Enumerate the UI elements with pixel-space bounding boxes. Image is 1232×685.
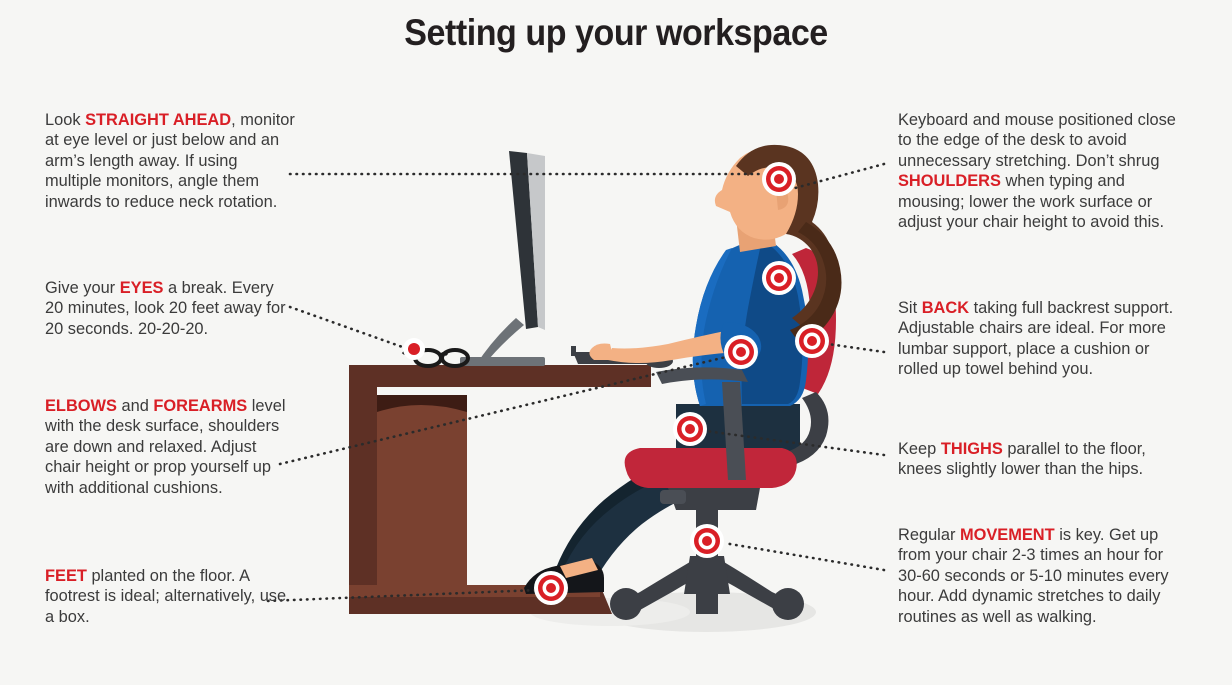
chair-base-marker[interactable]	[690, 524, 724, 558]
page-title: Setting up your workspace	[49, 12, 1182, 54]
callout-lead-text: Keyboard and mouse positioned close to t…	[898, 111, 1176, 170]
leader-back	[828, 344, 884, 352]
callout-highlight: STRAIGHT AHEAD	[85, 111, 231, 129]
monitor	[460, 151, 545, 366]
upper-back-marker[interactable]	[795, 324, 829, 358]
callout-highlight: ELBOWS	[45, 397, 117, 415]
callout-highlight: THIGHS	[941, 440, 1003, 458]
callout-lead-text: Regular	[898, 526, 960, 544]
callout-back: Sit BACK taking full backrest support. A…	[898, 298, 1188, 380]
chair-lever	[660, 490, 686, 504]
desk-left-leg	[349, 387, 377, 614]
chair-center-post	[696, 586, 718, 614]
caster-left	[610, 588, 642, 620]
callout-eyes: Give your EYES a break. Every 20 minutes…	[45, 278, 295, 339]
callout-lead-text: Sit	[898, 299, 922, 317]
shoulder-marker[interactable]	[762, 261, 796, 295]
leader-eyes	[290, 307, 408, 349]
hand	[589, 344, 614, 361]
callout-movement: Regular MOVEMENT is key. Get up from you…	[898, 525, 1188, 627]
desk-top	[349, 365, 651, 387]
monitor-base	[460, 357, 545, 366]
callout-lead-text: Look	[45, 111, 85, 129]
callout-highlight: BACK	[922, 299, 969, 317]
callout-highlight: MOVEMENT	[960, 526, 1055, 544]
callout-elbows: ELBOWS and FOREARMS level with the desk …	[45, 396, 295, 498]
elbow-marker[interactable]	[724, 335, 758, 369]
callout-highlight: EYES	[120, 279, 164, 297]
callout-keyboard: Keyboard and mouse positioned close to t…	[898, 110, 1188, 232]
callout-lead-text: Keep	[898, 440, 941, 458]
callout-lead-text: Give your	[45, 279, 120, 297]
foot-marker[interactable]	[534, 571, 568, 605]
glasses-marker[interactable]	[403, 338, 425, 360]
callout-straight-ahead: Look STRAIGHT AHEAD, monitor at eye leve…	[45, 110, 295, 212]
desk	[349, 365, 651, 614]
leader-movement	[724, 543, 884, 570]
callout-thighs: Keep THIGHS parallel to the floor, knees…	[898, 439, 1188, 480]
callout-feet: FEET planted on the floor. A footrest is…	[45, 566, 295, 627]
callout-mid-text: and	[117, 397, 153, 415]
callout-highlight: SHOULDERS	[898, 172, 1001, 190]
callout-highlight: FEET	[45, 567, 87, 585]
head-marker[interactable]	[762, 162, 796, 196]
caster-right	[772, 588, 804, 620]
infographic-canvas: Setting up your workspace Look STRAIGHT …	[0, 0, 1232, 685]
hip-marker[interactable]	[673, 412, 707, 446]
callout-highlight-secondary: FOREARMS	[153, 397, 247, 415]
desk-inner-panel	[377, 395, 467, 591]
chair-seat	[625, 448, 797, 488]
